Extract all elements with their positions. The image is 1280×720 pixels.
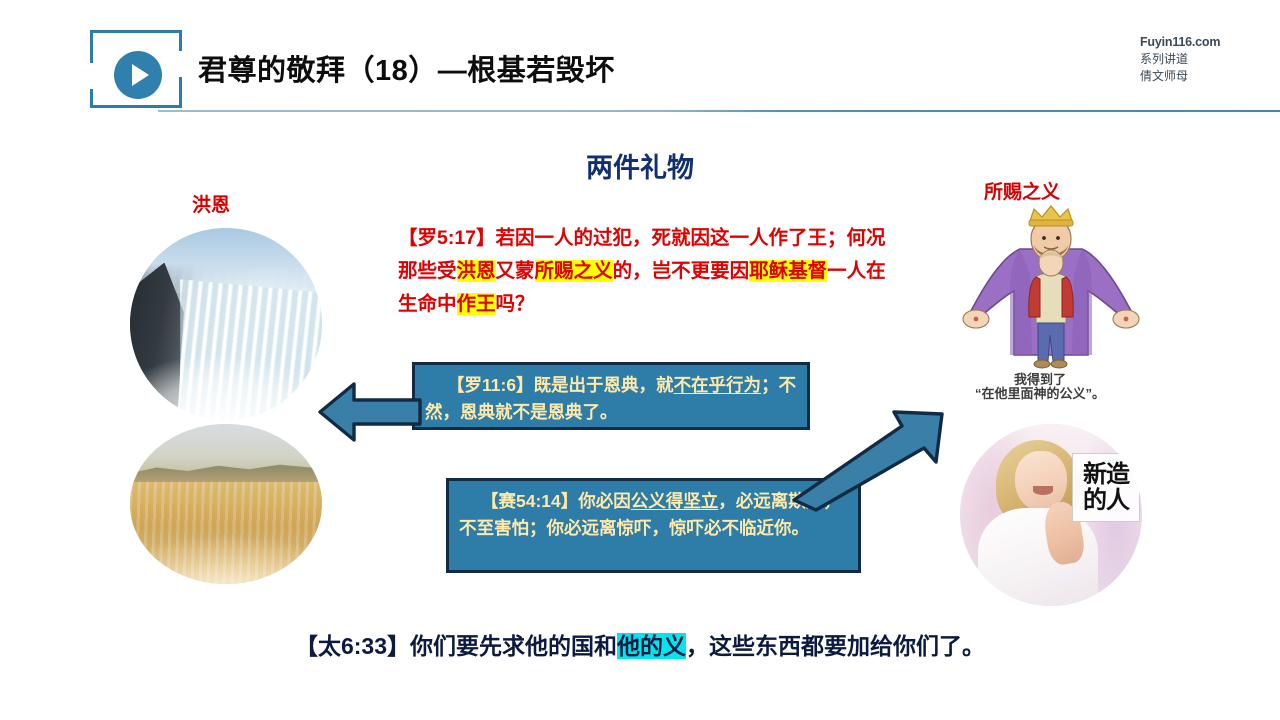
slide-canvas: 君尊的敬拜（18）—根基若毁坏 Fuyin116.com 系列讲道 倩文师母 两… [0,0,1280,720]
label-suocizhiyi: 所赐之义 [984,177,1060,204]
quote-box-romans-11-6: 【罗11:6】既是出于恩典，就不在乎行为；不然，恩典就不是恩典了。 [412,362,810,430]
king-caption-line2: “在他里面神的公义”。 [930,386,1150,401]
qbox1-text1: 既是出于恩典，就 [534,375,674,395]
arrow-up-right-icon [790,408,950,512]
qbox1-underline: 不在乎行为 [674,375,762,395]
king-embracing-person-illustration [958,205,1144,375]
badge-line2: 的人 [1083,488,1129,513]
verse-highlight-jesus-christ: 耶稣基督 [749,260,827,282]
yellow-river-sky [130,424,322,472]
bottom-verse-highlight: 他的义 [617,633,686,659]
page-title: 君尊的敬拜（18）—根基若毁坏 [198,47,615,89]
qbox1-ref: 【罗11:6】 [425,375,534,395]
yellow-river-waterfall-photo [130,424,322,584]
qbox2-text1: 你必因 [578,491,631,511]
niagara-waterfall-photo [130,228,322,420]
verse-matthew-6-33: 【太6:33】你们要先求他的国和他的义，这些东西都要加给你们了。 [0,627,1280,661]
king-caption-line1: 我得到了 [1014,372,1066,387]
bottom-verse-ref: 【太6:33】 [295,633,410,659]
yellow-river-spray [130,517,322,584]
badge-line1: 新造 [1083,462,1129,487]
verse-part2: 又蒙 [496,260,535,282]
verse-ref: 【罗5:17】 [398,227,496,249]
verse-part3: 的，岂不更要因 [613,260,750,282]
play-triangle-icon [132,64,149,86]
verse-highlight-hongen: 洪恩 [457,260,496,282]
brand-series: 系列讲道 [1140,51,1260,68]
verse-highlight-suocizhiyi: 所赐之义 [535,260,613,282]
verse-part5: 吗？ [496,293,535,315]
waterfall-mist [130,336,322,420]
section-title: 两件礼物 [0,146,1280,185]
brand-speaker: 倩文师母 [1140,68,1260,85]
bottom-verse-part2: ，这些东西都要加给你们了。 [686,633,985,659]
bottom-verse-part1: 你们要先求他的国和 [410,633,617,659]
woman-smile [1033,486,1053,495]
verse-romans-5-17: 【罗5:17】若因一人的过犯，死就因这一人作了王；何况那些受洪恩又蒙所赐之义的，… [398,222,890,321]
header-divider [158,110,1280,112]
label-hongen: 洪恩 [192,190,230,217]
logo-frame [90,30,182,108]
joyful-woman-photo: 新造 的人 [960,424,1142,606]
king-caption: 我得到了 “在他里面神的公义”。 [930,372,1150,401]
arrow-left-icon [318,378,422,446]
brand-domain: Fuyin116.com [1140,34,1260,51]
qbox2-ref: 【赛54:14】 [459,491,578,511]
verse-highlight-zuowang: 作王 [457,293,496,315]
new-creation-badge: 新造 的人 [1072,453,1140,522]
brand-block: Fuyin116.com 系列讲道 倩文师母 [1140,34,1260,85]
qbox2-underline: 公义得坚立 [631,491,719,511]
play-button-icon[interactable] [114,51,162,99]
